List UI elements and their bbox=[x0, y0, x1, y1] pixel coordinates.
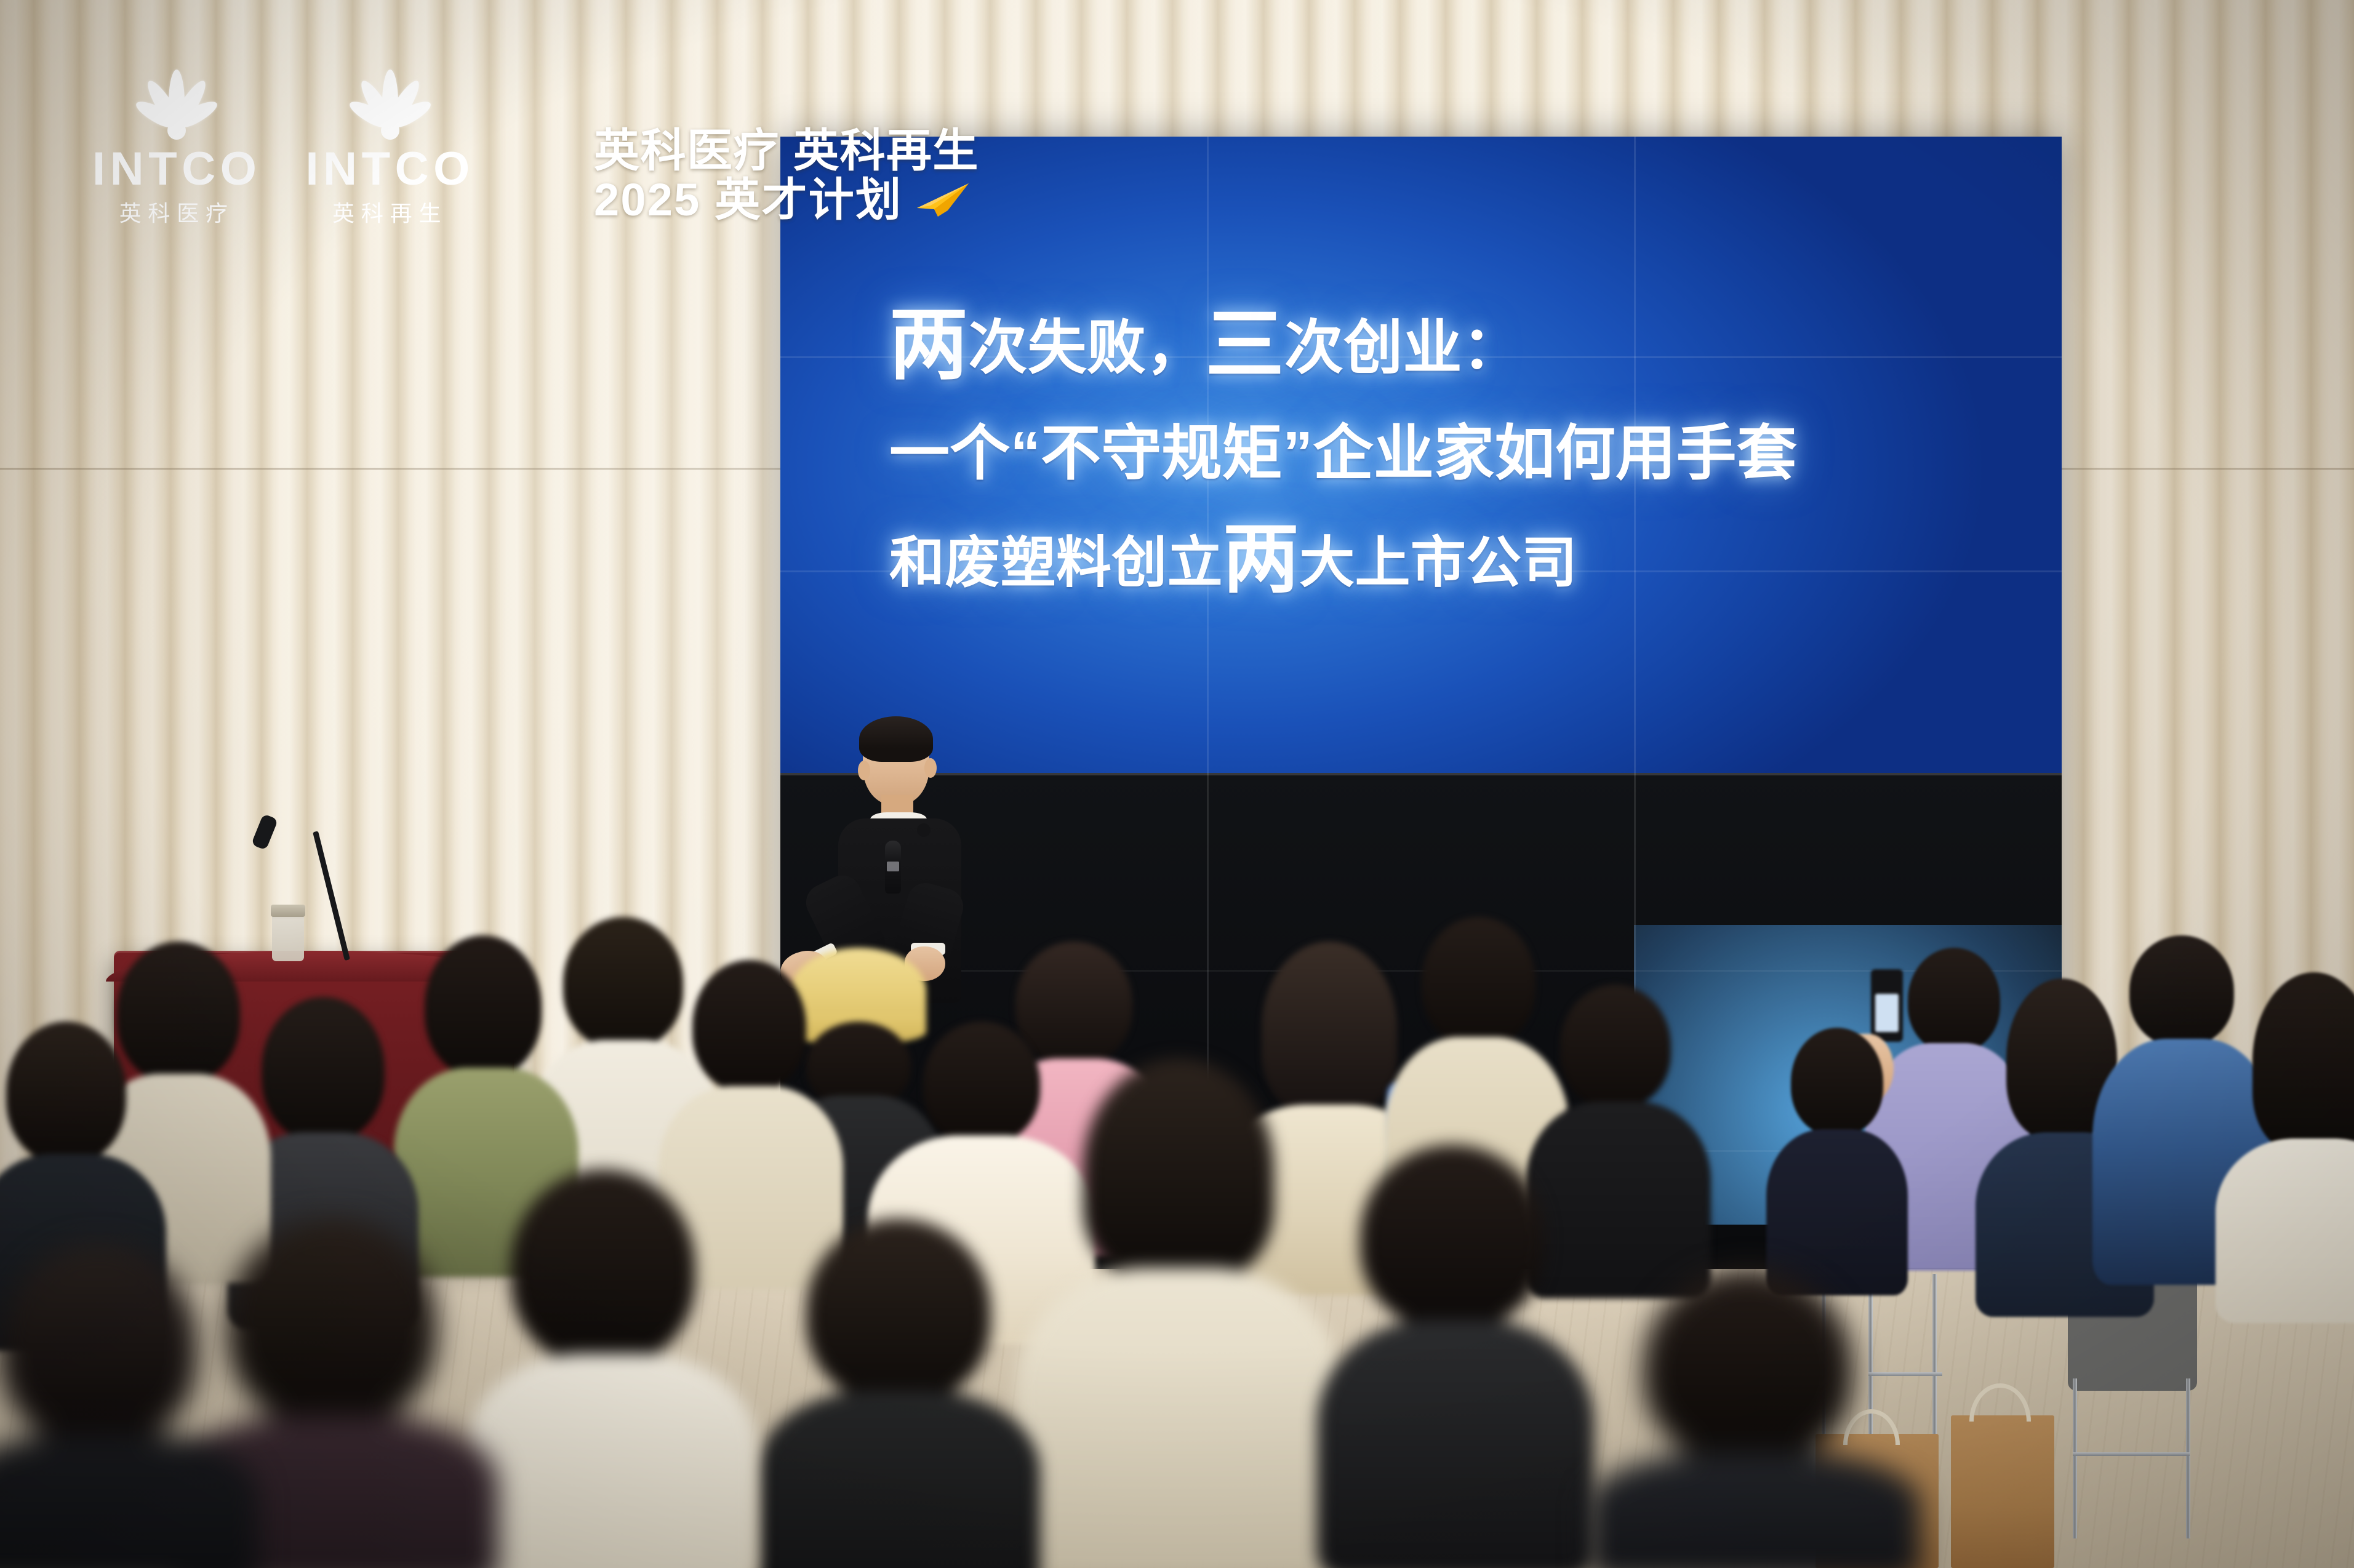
list-item bbox=[1575, 1268, 1920, 1568]
water-bottle bbox=[272, 911, 304, 961]
paper-plane-icon bbox=[913, 181, 970, 219]
slide-line-3: 和废塑料创立两大上市公司 bbox=[889, 521, 2011, 598]
tote-bag[interactable] bbox=[1951, 1415, 2054, 1568]
list-item bbox=[1034, 1058, 1317, 1568]
list-item bbox=[2228, 972, 2354, 1317]
water-bottle-cap bbox=[271, 905, 305, 917]
slide-line-1: 两次失败，三次创业： bbox=[889, 306, 2011, 385]
lapel-microphone bbox=[917, 823, 931, 837]
speaker-ear-right bbox=[924, 758, 937, 778]
list-item bbox=[1766, 1028, 1908, 1286]
list-item bbox=[1317, 1145, 1588, 1568]
event-title: 英科医疗 英科再生 2025 英才计划 bbox=[594, 126, 979, 225]
slide-line-2: 一个“不守规矩”企业家如何用手套 bbox=[889, 423, 2011, 483]
speaker-ear-left bbox=[858, 761, 870, 780]
list-item bbox=[751, 1218, 1040, 1568]
speaker-hair bbox=[859, 716, 933, 762]
event-title-line-2: 2025 英才计划 bbox=[594, 175, 979, 225]
handheld-microphone bbox=[885, 841, 901, 894]
presentation-photo: 两次失败，三次创业： 一个“不守规矩”企业家如何用手套 和废塑料创立两大上市公司… bbox=[0, 0, 2354, 1568]
list-item bbox=[0, 1243, 258, 1568]
event-title-line-1: 英科医疗 英科再生 bbox=[594, 126, 979, 175]
list-item bbox=[468, 1169, 751, 1568]
slide-text-block: 两次失败，三次创业： 一个“不守规矩”企业家如何用手套 和废塑料创立两大上市公司 bbox=[889, 306, 2011, 598]
